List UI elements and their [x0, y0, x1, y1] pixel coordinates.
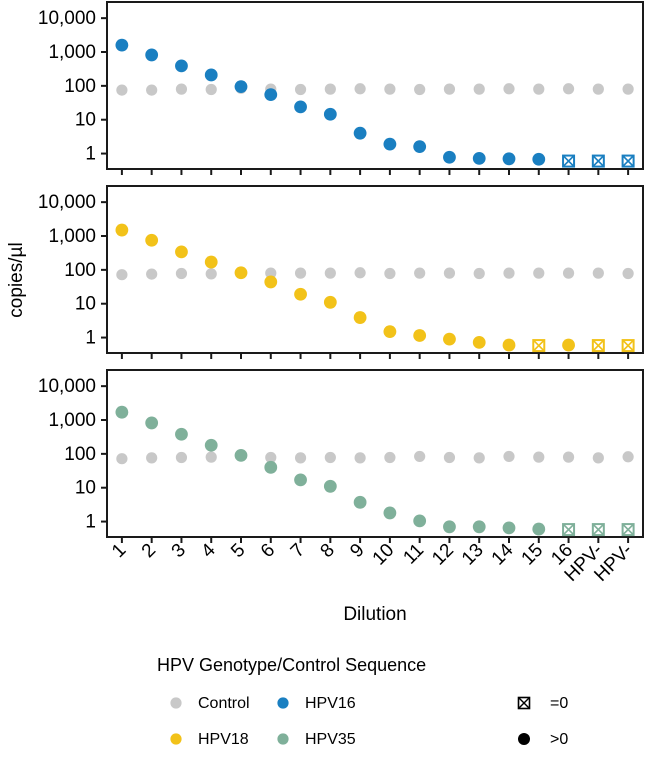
marker-point [145, 234, 158, 247]
marker-point [563, 452, 574, 463]
y-tick-label: 1,000 [48, 42, 96, 63]
marker-point [532, 153, 545, 166]
x-tick-label: 8 [317, 540, 339, 562]
y-tick-label: 10,000 [38, 376, 96, 397]
marker-point [145, 49, 158, 62]
marker-point [593, 84, 604, 95]
y-tick-label: 1 [85, 328, 96, 349]
series-control [116, 83, 633, 96]
marker-point [533, 268, 544, 279]
series-control [116, 267, 633, 280]
marker-point [563, 83, 574, 94]
marker-point [146, 84, 157, 95]
panel-3: 1101001,00010,000 [38, 370, 643, 543]
marker-point [116, 269, 127, 280]
legend-shape-label: =0 [550, 695, 568, 712]
marker-point [235, 266, 248, 279]
x-tick-label: 4 [197, 539, 220, 562]
marker-point [474, 268, 485, 279]
marker-point [355, 267, 366, 278]
legend-item-hpv18[interactable]: HPV18 [170, 731, 248, 748]
marker-point [235, 80, 248, 93]
marker-point [206, 452, 217, 463]
marker-zero [593, 156, 604, 167]
legend-title: HPV Genotype/Control Sequence [157, 655, 426, 675]
marker-point [146, 452, 157, 463]
marker-point [324, 480, 337, 493]
marker-point [623, 268, 634, 279]
y-tick-label: 1 [85, 144, 96, 165]
marker-point [383, 325, 396, 338]
marker-point [443, 333, 456, 346]
marker-point [354, 496, 367, 509]
marker-point [116, 84, 127, 95]
marker-point [206, 268, 217, 279]
marker-zero [623, 524, 634, 535]
marker-point [324, 108, 337, 121]
marker-point [175, 59, 188, 72]
legend-shape-label: >0 [550, 731, 568, 748]
marker-point [175, 245, 188, 258]
y-tick-label: 100 [64, 260, 96, 281]
marker-point [383, 507, 396, 520]
marker-point [324, 296, 337, 309]
marker-point [473, 152, 486, 165]
marker-point [325, 452, 336, 463]
marker-point [474, 452, 485, 463]
marker-point [175, 428, 188, 441]
marker-point [264, 276, 277, 289]
x-tick-label: 13 [458, 540, 488, 570]
marker-point [115, 224, 128, 237]
y-tick-label: 1,000 [48, 410, 96, 431]
marker-zero [593, 524, 604, 535]
legend-label-hpv18: HPV18 [198, 731, 249, 748]
marker-zero [533, 340, 544, 351]
marker-point [264, 88, 277, 101]
marker-point [295, 452, 306, 463]
panel-1: 1101001,00010,000 [38, 2, 643, 175]
x-axis-title: Dilution [343, 604, 406, 625]
legend-label-hpv16: HPV16 [305, 695, 356, 712]
legend-item-control[interactable]: Control [170, 695, 249, 712]
marker-zero [563, 524, 574, 535]
marker-point [115, 406, 128, 419]
y-tick-label: 1 [85, 512, 96, 533]
x-tick-label: 14 [488, 539, 518, 569]
legend-item-hpv16[interactable]: HPV16 [277, 695, 355, 712]
series-hpv35 [115, 406, 633, 536]
marker-point [354, 311, 367, 324]
marker-point [176, 452, 187, 463]
marker-point [145, 417, 158, 430]
legend-item-hpv35[interactable]: HPV35 [277, 731, 355, 748]
marker-point [623, 451, 634, 462]
marker-point [443, 151, 456, 164]
marker-point [384, 452, 395, 463]
marker-point [294, 288, 307, 301]
marker-point [414, 451, 425, 462]
marker-point [414, 268, 425, 279]
series-control [116, 449, 633, 464]
marker-point [532, 523, 545, 536]
marker-point [444, 268, 455, 279]
y-tick-label: 10 [75, 110, 96, 131]
y-tick-label: 10 [75, 478, 96, 499]
marker-point [294, 474, 307, 487]
marker-zero [623, 156, 634, 167]
legend-label-control: Control [198, 695, 250, 712]
marker-point [503, 268, 514, 279]
marker-point [235, 449, 248, 462]
marker-point [563, 268, 574, 279]
marker-point [295, 84, 306, 95]
marker-point [383, 138, 396, 151]
marker-point [503, 83, 514, 94]
marker-point [444, 452, 455, 463]
marker-point [355, 452, 366, 463]
panel-frame [107, 186, 643, 353]
marker-point [503, 152, 516, 165]
marker-point [384, 268, 395, 279]
x-tick-label: 15 [518, 540, 548, 570]
marker-point [325, 268, 336, 279]
x-tick-label: 3 [168, 540, 190, 562]
chart-svg: 1101001,00010,0001101001,00010,000110100… [0, 0, 646, 759]
marker-point [294, 100, 307, 113]
legend-swatch-hpv16 [277, 697, 288, 708]
legend-shape-item-filled-circle[interactable]: >0 [518, 731, 568, 748]
x-tick-label: 7 [287, 540, 309, 562]
panel-frame [107, 370, 643, 537]
y-tick-label: 10 [75, 294, 96, 315]
marker-point [503, 521, 516, 534]
marker-point [413, 329, 426, 342]
marker-point [593, 452, 604, 463]
x-tick-label: 12 [428, 540, 458, 570]
marker-point [355, 83, 366, 94]
marker-point [503, 451, 514, 462]
marker-point [413, 140, 426, 153]
marker-point [205, 439, 218, 452]
x-tick-label: 5 [227, 540, 249, 562]
marker-zero [623, 340, 634, 351]
marker-zero [563, 156, 574, 167]
marker-point [473, 336, 486, 349]
legend-shape-item-crossed-square[interactable]: =0 [519, 695, 569, 712]
marker-point [533, 84, 544, 95]
marker-point [264, 461, 277, 474]
marker-point [354, 127, 367, 140]
marker-point [146, 268, 157, 279]
marker-point [115, 39, 128, 52]
marker-point [623, 84, 634, 95]
y-tick-label: 100 [64, 444, 96, 465]
marker-point [473, 520, 486, 533]
series-hpv16 [115, 39, 633, 167]
x-tick-label: 1 [108, 540, 130, 562]
marker-point [116, 453, 127, 464]
y-tick-label: 100 [64, 76, 96, 97]
y-tick-label: 1,000 [48, 226, 96, 247]
x-tick-label: 9 [346, 540, 368, 562]
marker-point [206, 84, 217, 95]
marker-point [176, 84, 187, 95]
chart-figure: 1101001,00010,0001101001,00010,000110100… [0, 0, 646, 759]
marker-point [205, 256, 218, 269]
panel-frame [107, 2, 643, 169]
x-tick-label: 10 [369, 540, 399, 570]
marker-point [503, 339, 516, 352]
marker-point [474, 84, 485, 95]
legend-swatch-hpv35 [277, 733, 288, 744]
marker-point [562, 339, 575, 352]
legend-circle-icon [518, 733, 530, 745]
y-axis-title: copies/µl [6, 242, 27, 317]
legend: HPV Genotype/Control SequenceControlHPV1… [157, 655, 568, 748]
legend-swatch-control [170, 697, 181, 708]
marker-point [295, 268, 306, 279]
marker-point [384, 84, 395, 95]
y-tick-label: 10,000 [38, 192, 96, 213]
x-tick-label: 2 [138, 540, 160, 562]
marker-point [176, 268, 187, 279]
marker-point [444, 84, 455, 95]
marker-point [533, 452, 544, 463]
legend-swatch-hpv18 [170, 733, 181, 744]
marker-point [414, 84, 425, 95]
marker-zero [593, 340, 604, 351]
marker-point [413, 514, 426, 527]
series-hpv18 [115, 224, 633, 352]
x-tick-label: 6 [257, 540, 279, 562]
x-tick-label: 11 [399, 540, 428, 569]
panel-2: 1101001,00010,000 [38, 186, 643, 359]
legend-label-hpv35: HPV35 [305, 731, 356, 748]
marker-point [593, 268, 604, 279]
marker-point [205, 69, 218, 82]
y-tick-label: 10,000 [38, 8, 96, 29]
marker-point [325, 84, 336, 95]
marker-point [443, 520, 456, 533]
